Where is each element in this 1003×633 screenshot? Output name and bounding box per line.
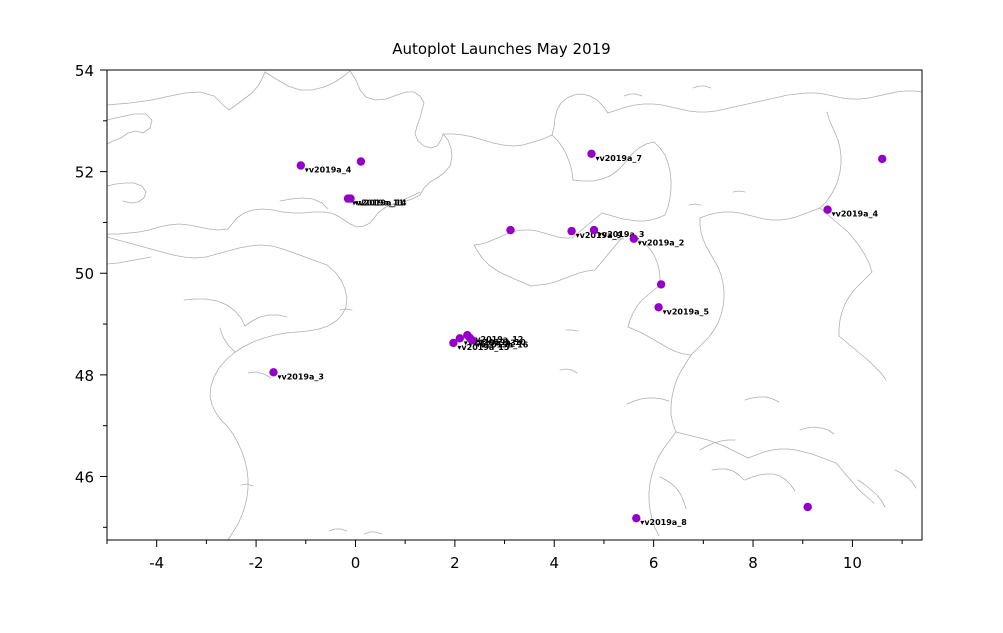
scatter-map-chart: ▾v2019a_4▾v2019a_11▾v2019a_14▾v2019a_7▾v… bbox=[0, 0, 1003, 633]
x-tick-label: 0 bbox=[351, 554, 361, 572]
data-point-label: ▾v2019a_14 bbox=[355, 199, 407, 208]
data-point-label: ▾v2019a_16 bbox=[476, 340, 528, 349]
data-point-layer: ▾v2019a_4▾v2019a_11▾v2019a_14▾v2019a_7▾v… bbox=[269, 150, 886, 528]
data-point-label: ▾v2019a_8 bbox=[640, 518, 687, 527]
x-tick-label: -2 bbox=[249, 554, 264, 572]
data-point[interactable] bbox=[456, 334, 464, 342]
data-point-label: ▾v2019a_2 bbox=[638, 239, 684, 248]
x-tick-label: 6 bbox=[649, 554, 659, 572]
data-point-label: ▾v2019a_4 bbox=[305, 166, 352, 175]
x-tick-label: 2 bbox=[450, 554, 460, 572]
y-tick-label: 46 bbox=[75, 468, 94, 486]
data-point[interactable] bbox=[823, 206, 831, 214]
x-tick-label: 10 bbox=[843, 554, 862, 572]
y-tick-label: 52 bbox=[75, 164, 94, 182]
data-point[interactable] bbox=[804, 503, 812, 511]
x-tick-label: 4 bbox=[549, 554, 559, 572]
data-point[interactable] bbox=[657, 280, 665, 288]
data-point[interactable] bbox=[346, 194, 354, 202]
x-tick-label: -4 bbox=[149, 554, 164, 572]
data-point-label: ▾v2019a_3 bbox=[278, 372, 324, 381]
coastline-layer bbox=[107, 71, 922, 540]
data-point-label: ▾v2019a_7 bbox=[596, 154, 642, 163]
data-point[interactable] bbox=[506, 226, 514, 234]
plot-window: Autoplot Launches May 2019 bbox=[0, 0, 1003, 633]
data-point-label: ▾v2019a_4 bbox=[832, 210, 879, 219]
data-point[interactable] bbox=[567, 227, 575, 235]
y-tick-label: 50 bbox=[75, 265, 94, 283]
y-tick-label: 54 bbox=[75, 62, 94, 80]
y-tick-label: 48 bbox=[75, 367, 94, 385]
data-point[interactable] bbox=[630, 235, 638, 243]
data-point[interactable] bbox=[587, 150, 595, 158]
data-point[interactable] bbox=[297, 161, 305, 169]
data-point[interactable] bbox=[269, 368, 277, 376]
data-point-label: ▾v2019a_5 bbox=[663, 307, 710, 316]
x-tick-label: 8 bbox=[748, 554, 758, 572]
data-point[interactable] bbox=[590, 226, 598, 234]
data-point[interactable] bbox=[654, 303, 662, 311]
data-point[interactable] bbox=[878, 155, 886, 163]
axis-tick-layer: -4-202468104648505254 bbox=[75, 62, 902, 572]
data-point[interactable] bbox=[357, 157, 365, 165]
data-point[interactable] bbox=[468, 336, 476, 344]
data-point[interactable] bbox=[632, 514, 640, 522]
axis-frame bbox=[107, 70, 922, 540]
